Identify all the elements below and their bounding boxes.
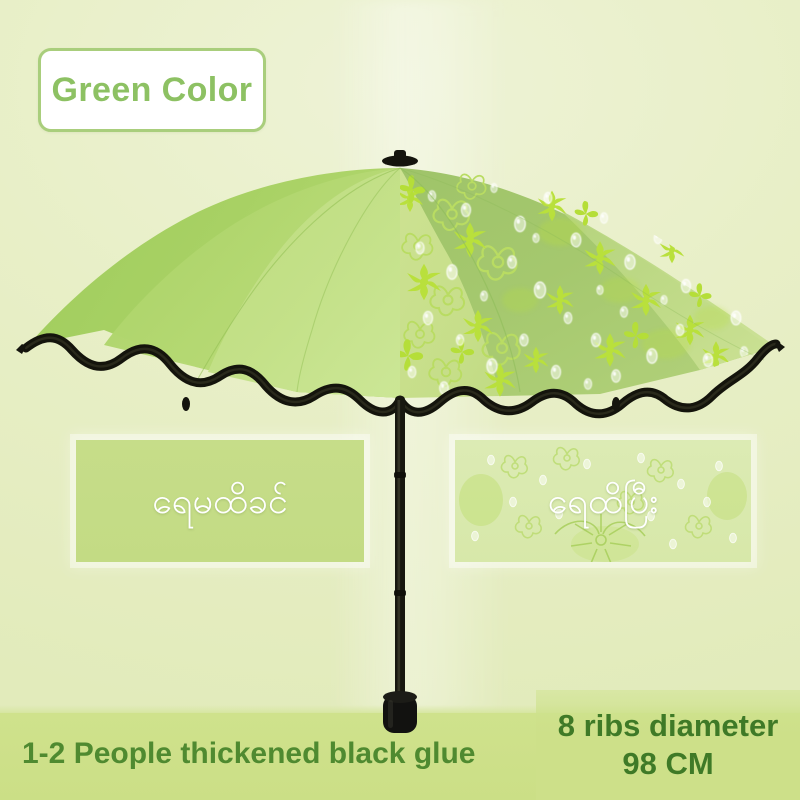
umbrella-handle: [383, 691, 417, 733]
after-water-label: ရေထိပြီး: [548, 482, 659, 520]
ribs-diameter-line: 8 ribs diameter: [558, 707, 779, 745]
after-water-panel: ရေထိပြီး: [455, 440, 751, 562]
bottom-left-caption: 1-2 People thickened black glue: [22, 737, 476, 771]
before-water-panel: ရေမထိခင်: [76, 440, 364, 562]
bottom-right-caption: 8 ribs diameter 98 CM: [536, 690, 800, 800]
color-badge-label: Green Color: [52, 71, 253, 110]
diameter-value-line: 98 CM: [622, 745, 713, 783]
umbrella-canopy-wet: [394, 168, 775, 398]
before-water-label: ရေမထိခင်: [152, 482, 288, 520]
color-badge: Green Color: [38, 48, 266, 132]
umbrella-shaft: [394, 396, 406, 706]
product-image: Green Color ရေမထိခင်: [0, 0, 800, 800]
umbrella-finial: [382, 150, 418, 167]
